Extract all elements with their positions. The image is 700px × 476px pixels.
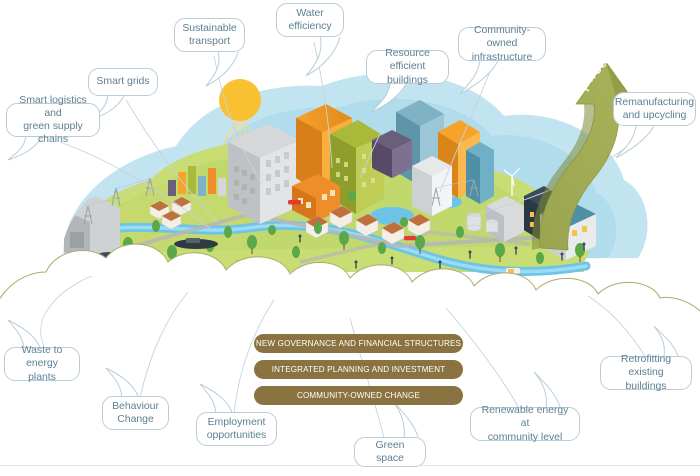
banner-community-owned-change[interactable]: COMMUNITY-OWNED CHANGE: [254, 386, 463, 405]
callout-label: Smart logistics and green supply chains: [14, 94, 92, 147]
callout-label: Remanufacturing and upcycling: [615, 96, 694, 122]
footer-divider: [0, 465, 700, 466]
callout-label: Community-owned infrastructure: [466, 24, 538, 64]
callout-label: Retrofitting existing buildings: [608, 353, 684, 393]
callout-water-efficiency[interactable]: Water efficiency: [276, 3, 344, 37]
callout-remanufacturing-upcycling[interactable]: Remanufacturing and upcycling: [613, 92, 696, 126]
callout-resource-efficient-buildings[interactable]: Resource efficient buildings: [366, 50, 449, 84]
infographic-canvas: Replication Smart logistics and green su…: [0, 0, 700, 476]
callout-label: Renewable energy at community level: [478, 404, 572, 444]
callout-label: Behaviour Change: [112, 400, 159, 426]
banner-label: NEW GOVERNANCE AND FINANCIAL STRUCTURES: [256, 339, 461, 348]
callout-label: Water efficiency: [288, 7, 331, 33]
banner-new-governance[interactable]: NEW GOVERNANCE AND FINANCIAL STRUCTURES: [254, 334, 463, 353]
banner-label: COMMUNITY-OWNED CHANGE: [297, 391, 420, 400]
callout-employment-opportunities[interactable]: Employment opportunities: [196, 412, 277, 446]
callout-smart-grids[interactable]: Smart grids: [88, 68, 158, 96]
callout-green-space[interactable]: Green space: [354, 437, 426, 467]
callout-label: Smart grids: [96, 75, 149, 88]
callout-label: Employment opportunities: [207, 416, 266, 442]
callout-community-owned-infrastructure[interactable]: Community-owned infrastructure: [458, 27, 546, 61]
banner-label: INTEGRATED PLANNING AND INVESTMENT: [272, 365, 446, 374]
callout-smart-logistics[interactable]: Smart logistics and green supply chains: [6, 103, 100, 137]
callout-behaviour-change[interactable]: Behaviour Change: [102, 396, 169, 430]
callout-renewable-energy[interactable]: Renewable energy at community level: [470, 407, 580, 441]
callout-waste-to-energy[interactable]: Waste to energy plants: [4, 347, 80, 381]
callout-label: Sustainable transport: [182, 22, 236, 48]
callout-label: Green space: [362, 439, 418, 465]
callout-sustainable-transport[interactable]: Sustainable transport: [174, 18, 245, 52]
banner-integrated-planning[interactable]: INTEGRATED PLANNING AND INVESTMENT: [254, 360, 463, 379]
callout-retrofitting-existing-buildings[interactable]: Retrofitting existing buildings: [600, 356, 692, 390]
callout-label: Resource efficient buildings: [374, 47, 441, 87]
callout-label: Waste to energy plants: [12, 344, 72, 384]
